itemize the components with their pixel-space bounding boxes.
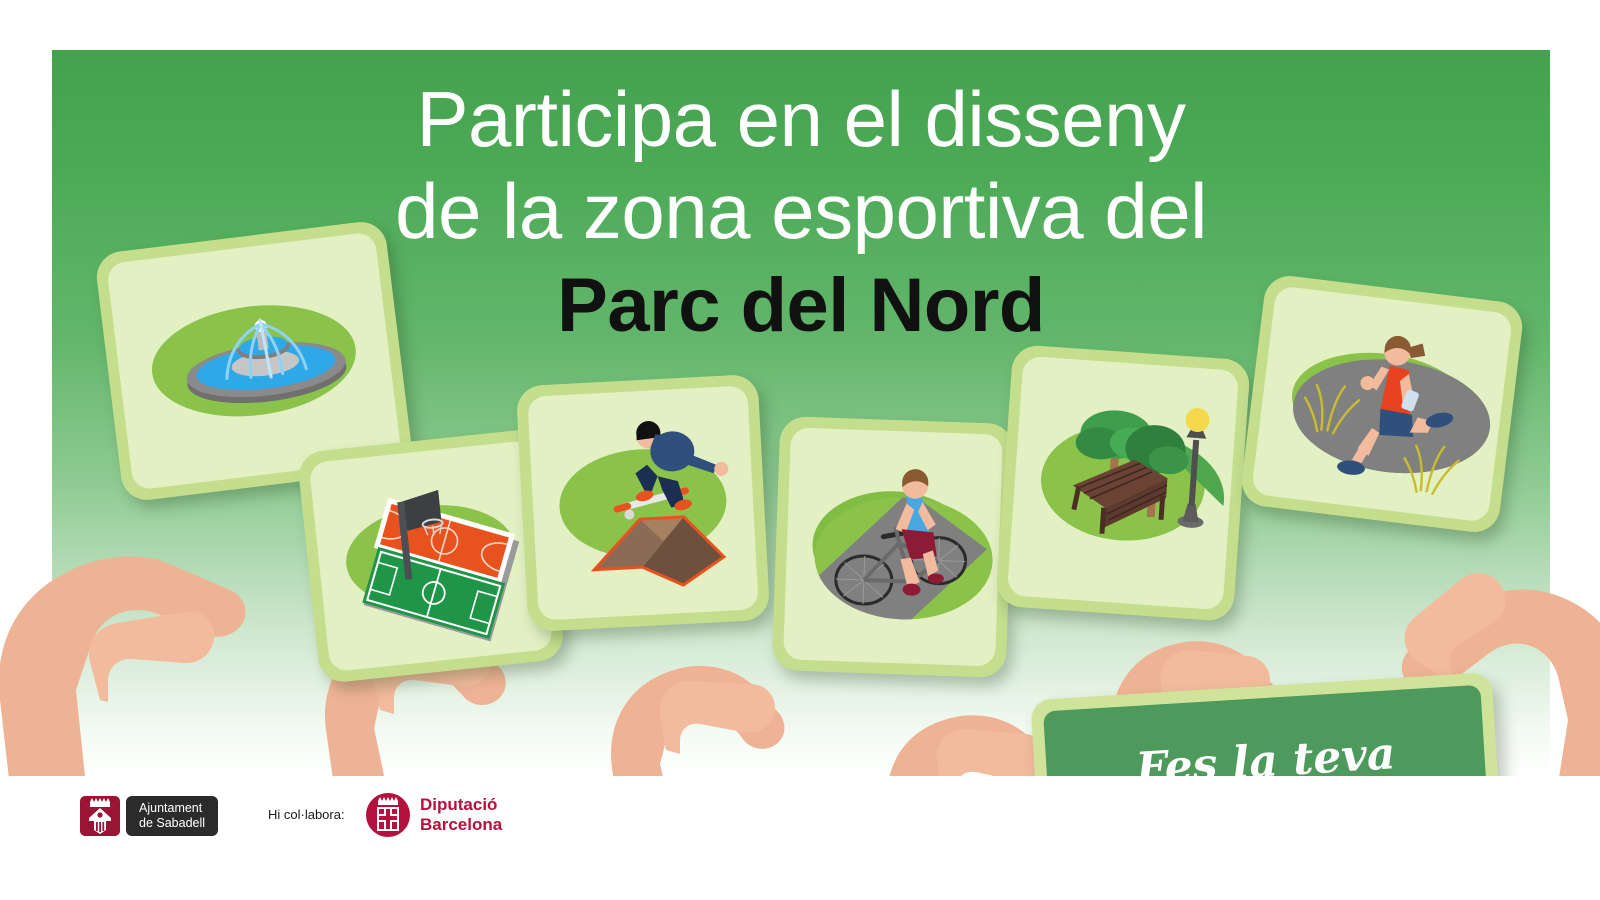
- ajuntament-name-line-1: Ajuntament: [139, 801, 205, 816]
- card-bench-face: [1007, 356, 1239, 610]
- cyclist-illustration: [783, 427, 1003, 666]
- ajuntament-de-sabadell-logo[interactable]: Ajuntament de Sabadell: [80, 796, 218, 836]
- card-runner[interactable]: [1239, 273, 1525, 535]
- diputacio-name: Diputació Barcelona: [420, 795, 502, 834]
- card-bench-tree[interactable]: [995, 344, 1251, 622]
- diputacio-barcelona-logo[interactable]: Diputació Barcelona: [366, 793, 502, 837]
- diputacio-barcelona-crest-icon: [366, 793, 410, 837]
- sabadell-coat-of-arms-icon: [80, 796, 120, 836]
- sports-courts-illustration: [309, 440, 554, 672]
- ajuntament-name-line-2: de Sabadell: [139, 816, 205, 831]
- skater-figure: [631, 417, 731, 514]
- card-courts-face: [309, 440, 554, 672]
- card-run-face: [1251, 285, 1513, 522]
- card-skate-ramp[interactable]: [516, 374, 771, 632]
- poster-canvas: Participa en el disseny de la zona espor…: [0, 0, 1600, 900]
- diputacio-name-line-1: Diputació: [420, 795, 502, 815]
- skate-ramp-illustration: [527, 385, 758, 620]
- card-cyclist[interactable]: [772, 416, 1015, 678]
- card-skate-face: [527, 385, 758, 620]
- card-bike-face: [783, 427, 1003, 666]
- footer-logos: Ajuntament de Sabadell Hi col·labora:: [0, 776, 1600, 900]
- bench-tree-lamp-illustration: [1007, 356, 1239, 610]
- diputacio-name-line-2: Barcelona: [420, 815, 502, 835]
- ajuntament-name: Ajuntament de Sabadell: [126, 796, 218, 836]
- runner-illustration: [1251, 285, 1513, 522]
- collaborator-label: Hi col·labora:: [268, 807, 345, 822]
